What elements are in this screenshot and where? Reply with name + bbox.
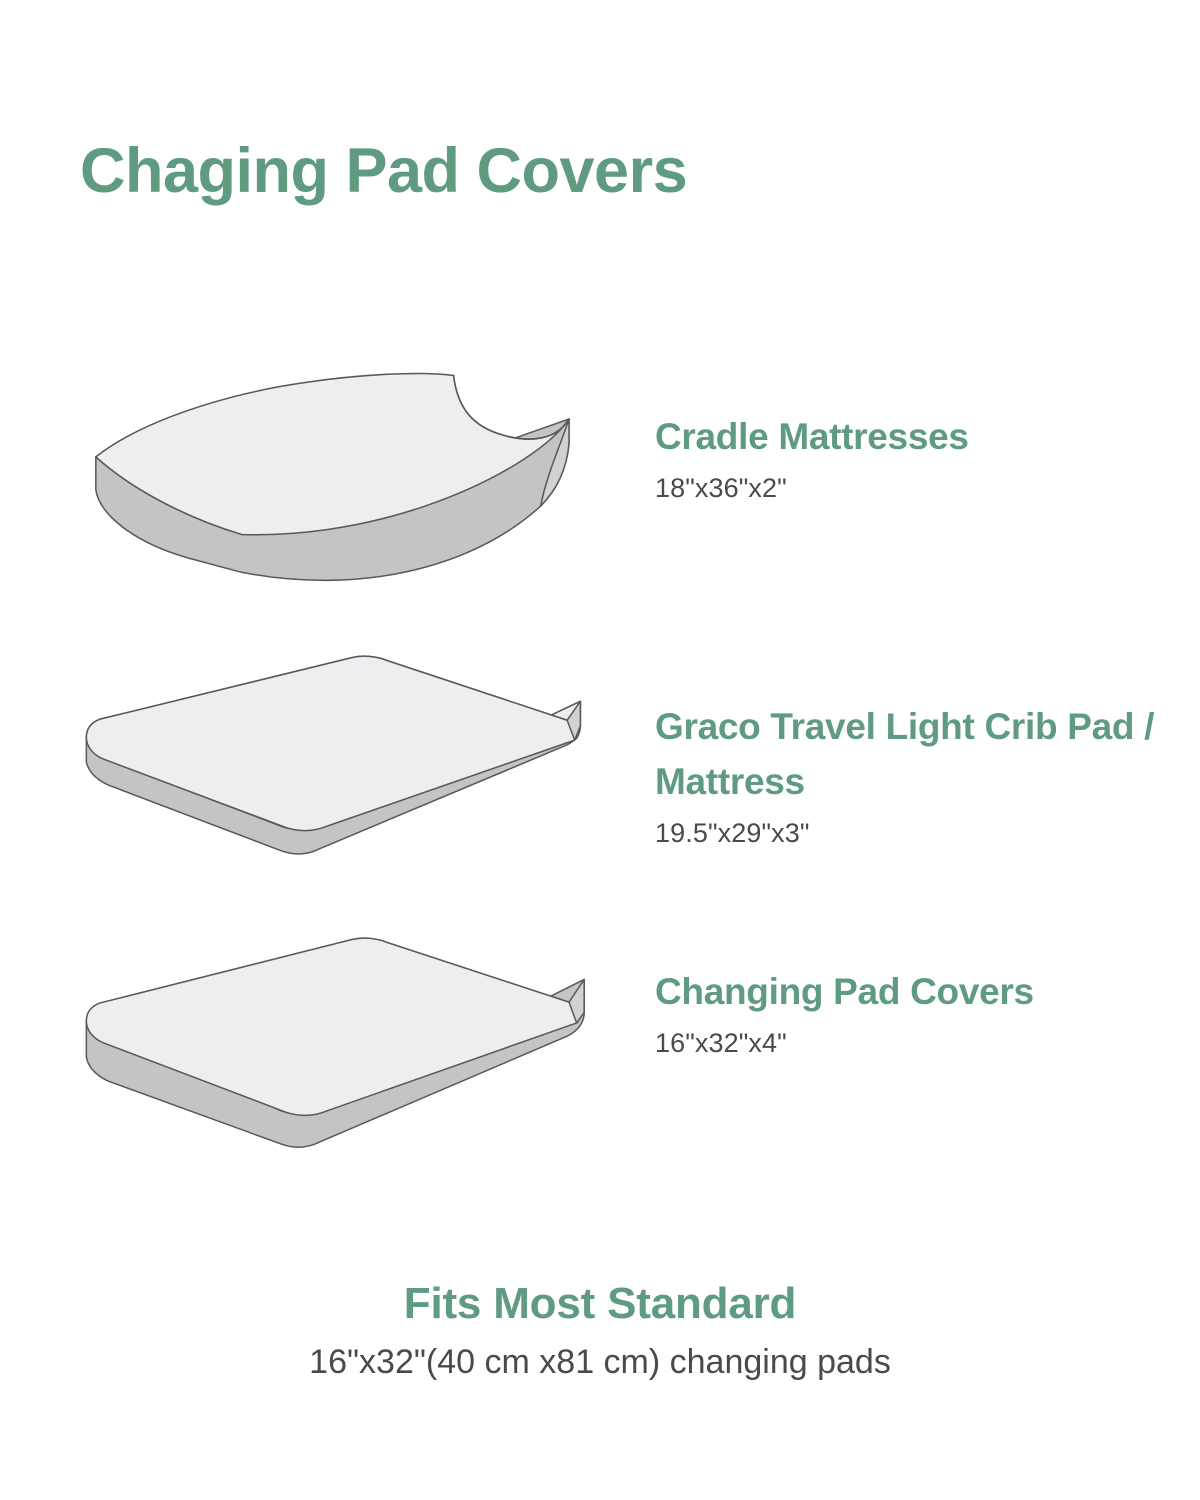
footer-title: Fits Most Standard <box>0 1275 1200 1332</box>
thin-flat-mattress-illustration <box>75 650 635 887</box>
product-name: Changing Pad Covers <box>655 965 1180 1020</box>
product-row: Changing Pad Covers 16"x32"x4" <box>0 930 1200 1167</box>
product-dimensions: 18"x36"x2" <box>655 469 1180 508</box>
contoured-changing-pad-illustration <box>75 362 635 599</box>
page-title: Chaging Pad Covers <box>80 136 687 207</box>
product-dimensions: 16"x32"x4" <box>655 1024 1180 1063</box>
product-dimensions: 19.5"x29"x3" <box>655 814 1180 853</box>
product-text-column: Graco Travel Light Crib Pad / Mattress 1… <box>635 650 1200 853</box>
footer: Fits Most Standard 16"x32"(40 cm x81 cm)… <box>0 1275 1200 1386</box>
product-text-column: Changing Pad Covers 16"x32"x4" <box>635 930 1200 1063</box>
product-row: Cradle Mattresses 18"x36"x2" <box>0 362 1200 599</box>
thick-flat-mattress-illustration <box>75 930 635 1167</box>
product-row: Graco Travel Light Crib Pad / Mattress 1… <box>0 650 1200 887</box>
footer-subtitle: 16"x32"(40 cm x81 cm) changing pads <box>0 1340 1200 1386</box>
product-name: Graco Travel Light Crib Pad / Mattress <box>655 700 1180 810</box>
product-text-column: Cradle Mattresses 18"x36"x2" <box>635 362 1200 508</box>
product-name: Cradle Mattresses <box>655 410 1180 465</box>
